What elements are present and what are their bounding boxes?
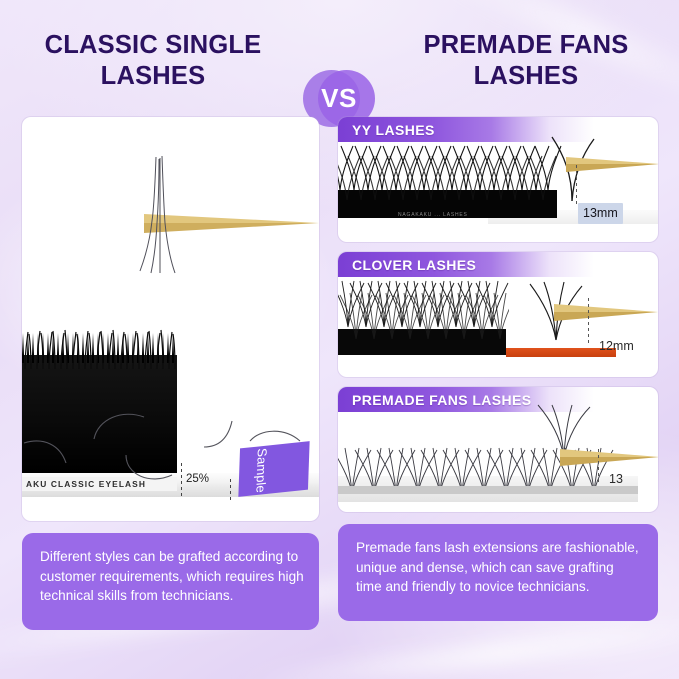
- header-row: CLASSIC SINGLE LASHES VS PREMADE FANS LA…: [0, 30, 679, 110]
- loose-curved-lashes-svg: [22, 393, 319, 513]
- yy-lashes-card: YY LASHES: [338, 117, 658, 242]
- left-caption-box: Different styles can be grafted accordin…: [22, 533, 319, 630]
- clover-length-badge: 12mm: [594, 336, 639, 357]
- clover-lashes-card: CLOVER LASHES: [338, 252, 658, 377]
- left-column: AKU CLASSIC EYELASH 25% Sample Diff: [22, 117, 319, 630]
- right-caption-box: Premade fans lash extensions are fashion…: [338, 524, 658, 621]
- single-lash-fiber-svg: [126, 155, 186, 275]
- yy-lashes-title: YY LASHES: [338, 122, 435, 138]
- premade-fans-lashes-card: PREMADE FANS LASHES: [338, 387, 658, 512]
- yy-micro-text: NAGAKAKU ... LASHES: [398, 212, 468, 218]
- premade-fans-title: PREMADE FANS LASHES: [338, 392, 532, 408]
- yy-lash-tray-fans: [338, 142, 562, 220]
- left-column-title: CLASSIC SINGLE LASHES: [8, 30, 298, 92]
- classic-lash-tip-strands: [22, 329, 177, 369]
- clover-lashes-title: CLOVER LASHES: [338, 257, 476, 273]
- right-caption-text: Premade fans lash extensions are fashion…: [356, 540, 639, 594]
- clover-measure-line: [588, 298, 589, 344]
- premade-length-badge: 13: [604, 469, 628, 490]
- left-caption-text: Different styles can be grafted accordin…: [40, 549, 304, 603]
- comparison-infographic: CLASSIC SINGLE LASHES VS PREMADE FANS LA…: [0, 0, 679, 679]
- right-column-title: PREMADE FANS LASHES: [381, 30, 671, 92]
- right-column: YY LASHES: [338, 117, 658, 621]
- classic-lashes-photo-card: AKU CLASSIC EYELASH 25% Sample: [22, 117, 319, 521]
- premade-measure-line: [598, 449, 599, 483]
- clover-lashes-header-bar: CLOVER LASHES: [338, 252, 658, 277]
- yy-length-badge: 13mm: [578, 203, 623, 224]
- yy-measure-line: [576, 165, 577, 207]
- clover-lash-tray-fans: [338, 277, 509, 357]
- premade-fans-header-bar: PREMADE FANS LASHES: [338, 387, 658, 412]
